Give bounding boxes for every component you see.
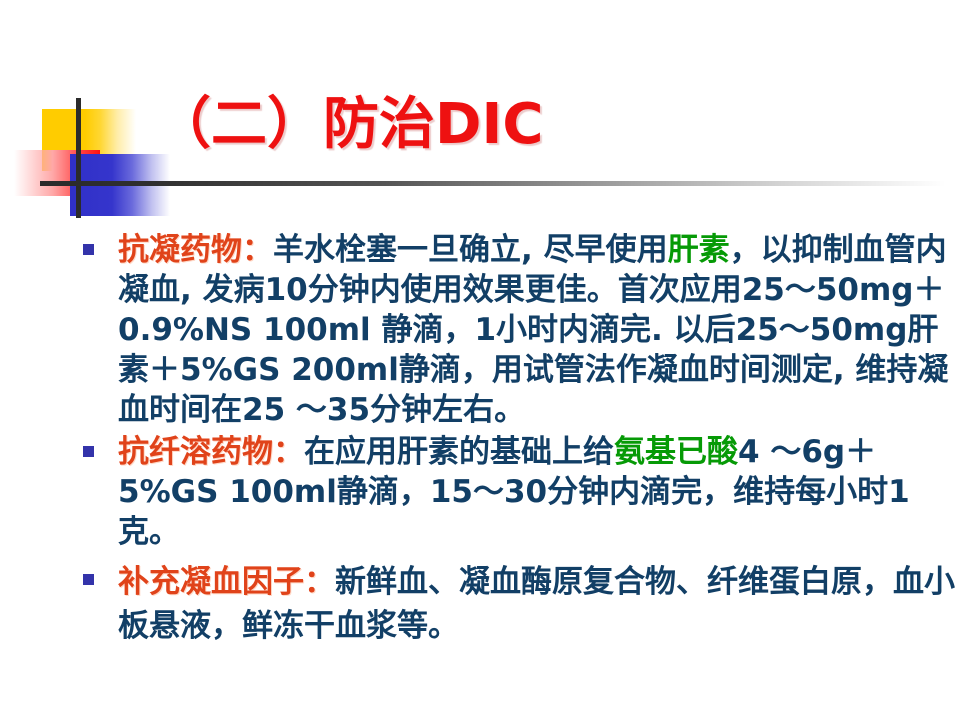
ornament-horizontal-rule — [40, 181, 946, 186]
square-bullet-icon — [83, 244, 94, 255]
slide-title: （二）防治DIC — [155, 96, 543, 155]
bullet-segment-1-0: 羊水栓塞一旦确立, 尽早使用 — [273, 232, 668, 268]
bullet-heading-3: 补充凝血因子： — [118, 564, 335, 600]
bullet-highlight-2: 氨基已酸 — [614, 434, 738, 470]
list-item: 抗凝药物：羊水栓塞一旦确立, 尽早使用肝素，以抑制血管内凝血, 发病10分钟内使… — [78, 230, 958, 430]
bullet-heading-2: 抗纤溶药物： — [118, 434, 304, 470]
slide-body: 抗凝药物：羊水栓塞一旦确立, 尽早使用肝素，以抑制血管内凝血, 发病10分钟内使… — [78, 230, 958, 648]
list-item: 补充凝血因子：新鲜血、凝血酶原复合物、纤维蛋白原，血小板悬液，鲜冻干血浆等。 — [78, 560, 958, 648]
bullet-segment-2-0: 在应用肝素的基础上给 — [304, 434, 614, 470]
square-bullet-icon — [83, 574, 94, 585]
slide-canvas: （二）防治DIC 抗凝药物：羊水栓塞一旦确立, 尽早使用肝素，以抑制血管内凝血,… — [0, 0, 960, 720]
list-item: 抗纤溶药物：在应用肝素的基础上给氨基已酸4 ～6g＋5%GS 100ml静滴，1… — [78, 432, 958, 552]
bullet-text-2: 抗纤溶药物：在应用肝素的基础上给氨基已酸4 ～6g＋5%GS 100ml静滴，1… — [118, 432, 958, 552]
bullet-heading-1: 抗凝药物： — [118, 232, 273, 268]
ornament-vertical-rule — [76, 98, 81, 218]
bullet-highlight-1: 肝素 — [668, 232, 730, 268]
square-bullet-icon — [83, 446, 94, 457]
bullet-text-3: 补充凝血因子：新鲜血、凝血酶原复合物、纤维蛋白原，血小板悬液，鲜冻干血浆等。 — [118, 560, 958, 648]
bullet-text-1: 抗凝药物：羊水栓塞一旦确立, 尽早使用肝素，以抑制血管内凝血, 发病10分钟内使… — [118, 230, 958, 430]
